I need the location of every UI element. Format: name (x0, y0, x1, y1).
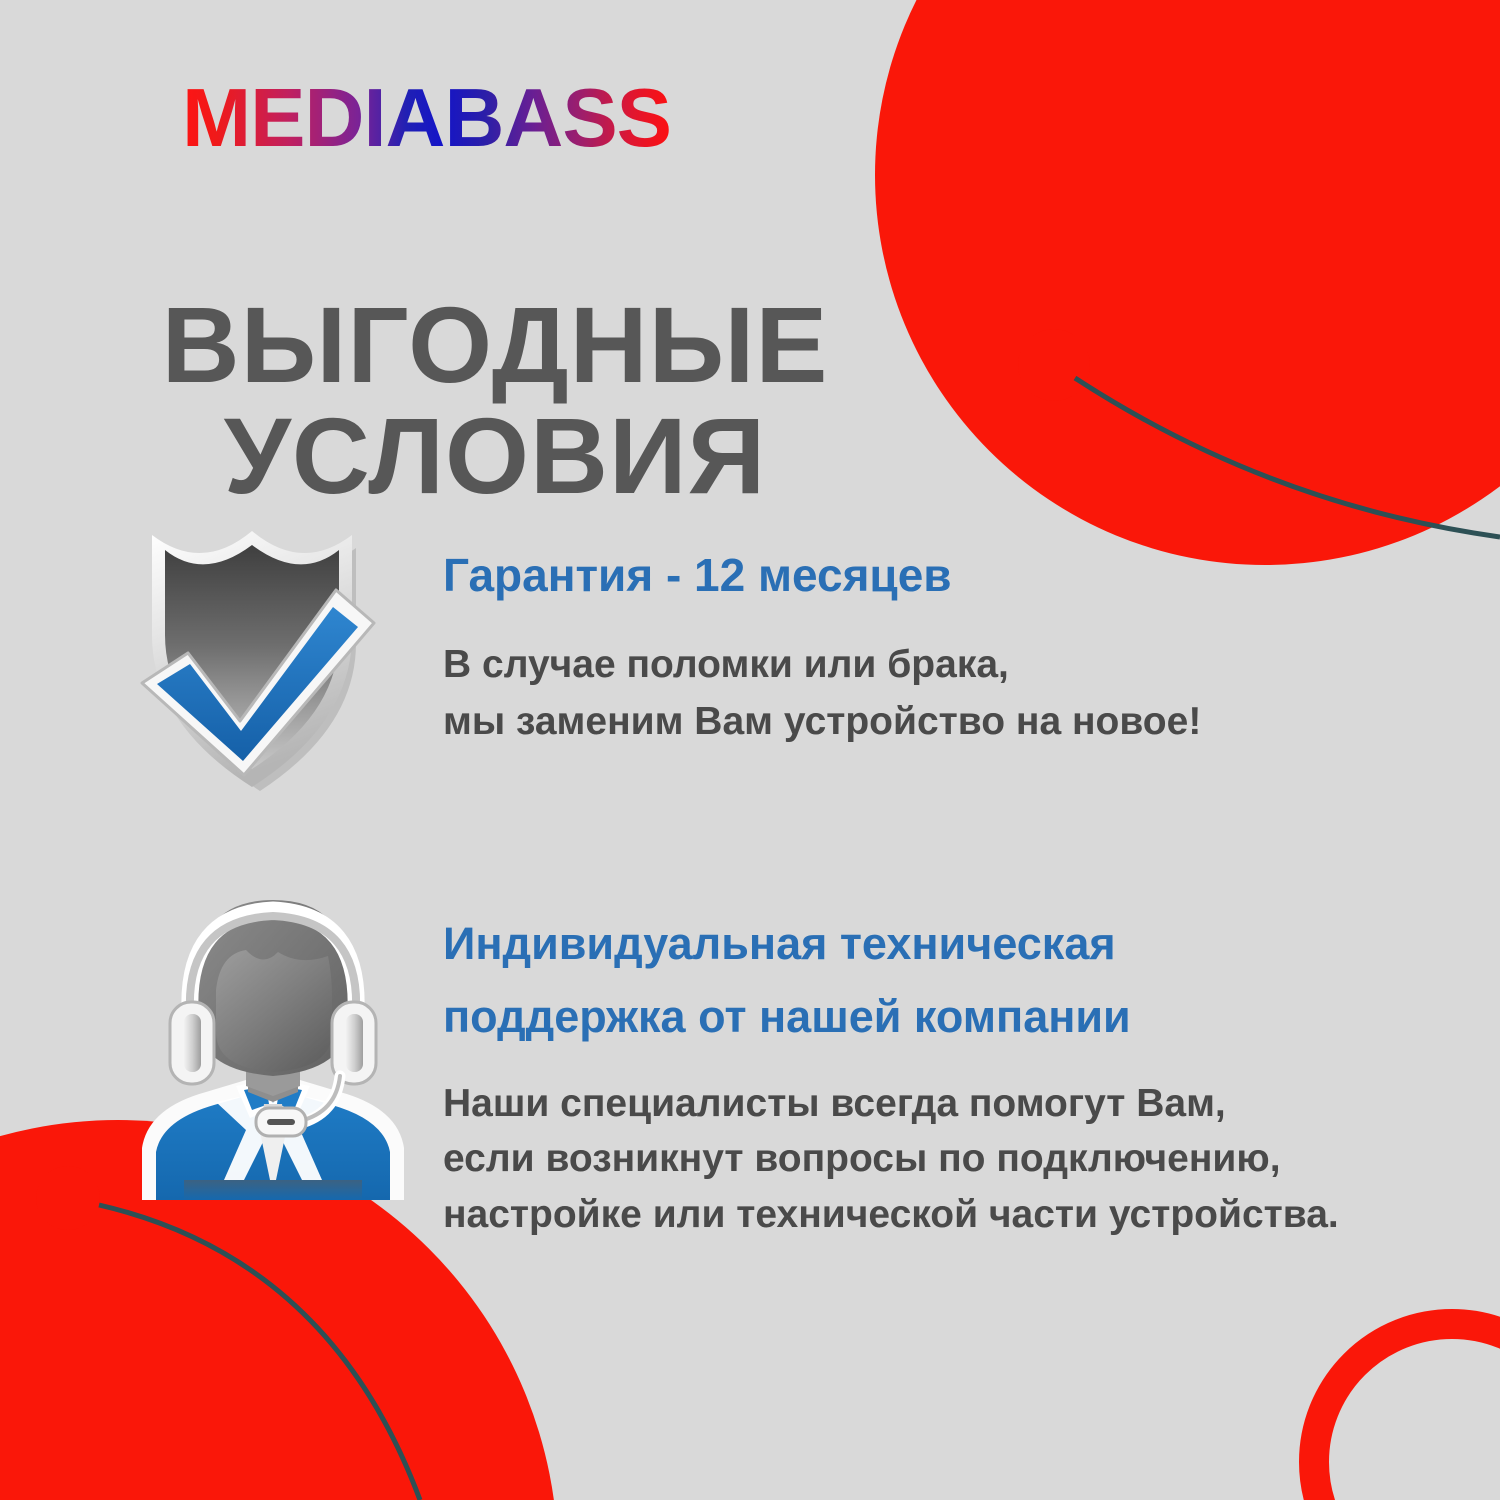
shield-check-icon (128, 515, 378, 805)
teal-curve-bottom (99, 1205, 420, 1500)
feature-support-heading-line-1: Индивидуальная техническая (443, 918, 1116, 969)
red-dot-bottom-left (36, 1166, 100, 1230)
feature-warranty-body-line-1: В случае поломки или брака, (443, 643, 1009, 686)
teal-curve-top (1075, 378, 1500, 537)
support-agent-icon (128, 880, 418, 1205)
page-title-line-2: УСЛОВИЯ (0, 401, 990, 511)
feature-support-body-line-1: Наши специалисты всегда помогут Вам, (443, 1082, 1226, 1125)
feature-warranty-body: В случае поломки или брака, мы заменим В… (443, 599, 1473, 750)
brand-logo: MEDIABASS (182, 76, 671, 159)
feature-support-heading-line-2: поддержка от нашей компании (443, 991, 1131, 1042)
feature-support-heading: Индивидуальная техническая поддержка от … (443, 880, 1473, 1054)
feature-warranty-heading: Гарантия - 12 месяцев (443, 515, 1473, 599)
page-title-line-1: ВЫГОДНЫЕ (162, 284, 829, 405)
feature-warranty-text: Гарантия - 12 месяцев В случае поломки и… (443, 515, 1473, 750)
promo-poster: MEDIABASS ВЫГОДНЫЕ УСЛОВИЯ Гарантия - 12… (0, 0, 1500, 1500)
feature-support-body-line-3: настройке или технической части устройст… (443, 1193, 1339, 1236)
feature-support-body-line-2: если возникнут вопросы по подключению, (443, 1137, 1281, 1180)
page-title: ВЫГОДНЫЕ УСЛОВИЯ (0, 290, 990, 510)
feature-warranty-body-line-2: мы заменим Вам устройство на новое! (443, 700, 1201, 743)
red-dot-upper-right (1018, 329, 1090, 401)
red-ring-bottom-right (1314, 1324, 1500, 1500)
feature-support-body: Наши специалисты всегда помогут Вам, есл… (443, 1054, 1473, 1242)
feature-support-text: Индивидуальная техническая поддержка от … (443, 880, 1473, 1242)
